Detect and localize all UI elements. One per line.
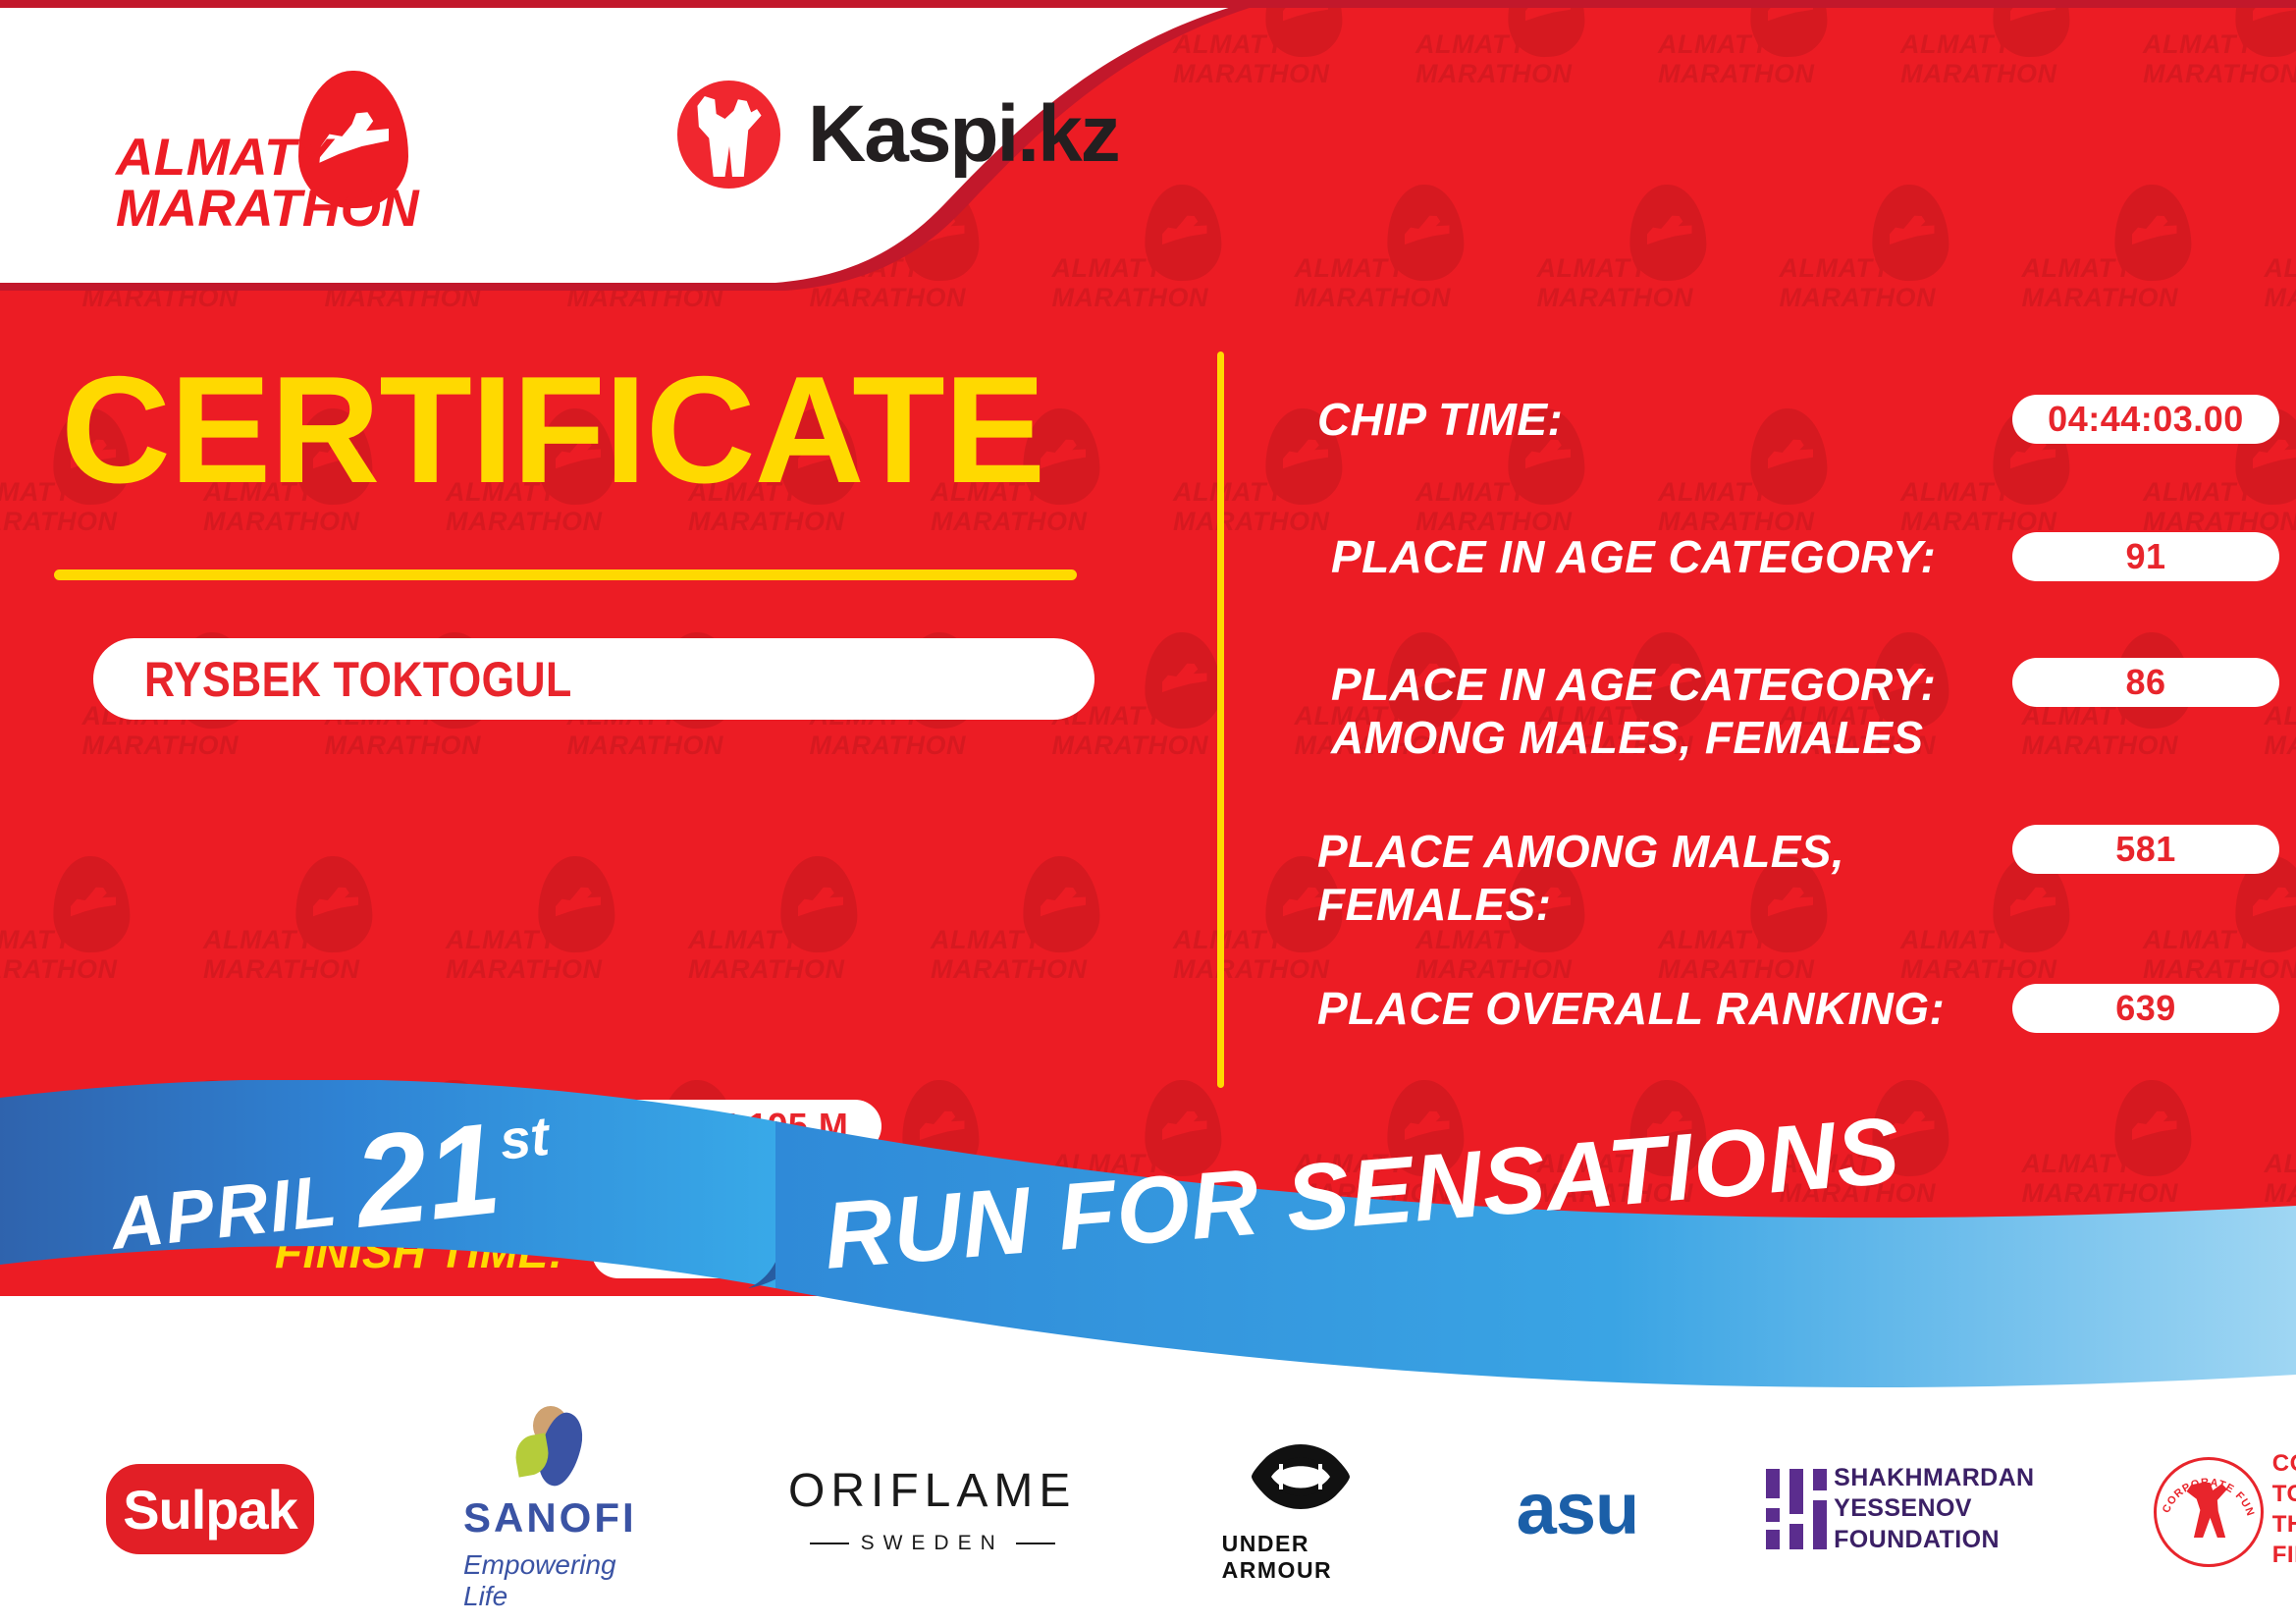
place-overall-ranking-value: 639 <box>2115 988 2176 1029</box>
watermark-line2: MARATHON <box>1658 954 1814 985</box>
yessenov-foundation-logo <box>1766 1469 1812 1549</box>
athlete-name-value: RYSBEK TOKTOGUL <box>144 651 572 708</box>
sulpak-logo-label: Sulpak <box>123 1478 297 1542</box>
sponsor-sanofi: SANOFI Empowering Life <box>463 1406 637 1612</box>
watermark-line2: MARATHON <box>810 731 966 761</box>
sponsor-sulpak: Sulpak <box>106 1464 314 1554</box>
watermark-line2: MARATHON <box>2143 59 2296 89</box>
watermark-line2: MARATHON <box>931 954 1087 985</box>
watermark-line1: ALMATY <box>0 925 72 955</box>
watermark-line1: ALMATY <box>2143 477 2254 508</box>
place-age-category-among-value-pill: 86 <box>2012 658 2279 707</box>
watermark-line2: MARATHON <box>82 731 239 761</box>
stat-row-place-age-category-among: PLACE IN AGE CATEGORY: AMONG MALES, FEMA… <box>1317 658 2279 765</box>
place-among-males-females-value-pill: 581 <box>2012 825 2279 874</box>
bar-3 <box>1813 1469 1827 1490</box>
courage-fund-line1: COURAGE <box>2272 1448 2296 1479</box>
top-accent-line <box>0 0 2296 8</box>
place-overall-ranking-label: PLACE OVERALL RANKING: <box>1317 982 1945 1035</box>
watermark-line1: ALMATY <box>1537 253 1648 284</box>
courage-fund-logo: CORPORATE FUND <box>2154 1457 2257 1561</box>
place-age-category-value-pill: 91 <box>2012 532 2279 581</box>
kaspi-logo-label: Kaspi.kz <box>808 94 1119 175</box>
courage-fund-arc-text: CORPORATE FUND <box>2158 1459 2258 1559</box>
watermark-line2: MARATHON <box>1415 954 1572 985</box>
watermark-line2: MARATHON <box>325 731 481 761</box>
watermark-line1: ALMATY <box>1295 253 1406 284</box>
watermark-line1: ALMATY <box>446 925 557 955</box>
place-age-category-among-label-line1: PLACE IN AGE CATEGORY: <box>1331 658 1936 711</box>
courage-fund-label: COURAGE TO BE THE FIRST! <box>2272 1448 2296 1571</box>
watermark-line2: MARATHON <box>1658 59 1814 89</box>
sponsor-under-armour: UNDER ARMOUR <box>1222 1435 1379 1584</box>
watermark-line2: MARATHON <box>1780 283 1936 313</box>
watermark-line2: MARATHON <box>203 954 359 985</box>
kaspi-logo: Kaspi.kz <box>677 81 1119 189</box>
column-divider <box>1217 352 1224 1088</box>
watermark-runner-icon <box>798 886 843 919</box>
watermark-drop-icon <box>51 855 131 954</box>
athlete-name-field: RYSBEK TOKTOGUL <box>93 638 1095 720</box>
under-armour-logo <box>1222 1435 1379 1519</box>
watermark-runner-icon <box>71 886 116 919</box>
watermark-line1: ALMATY <box>1780 253 1891 284</box>
courage-fund-line2: TO BE <box>2272 1479 2296 1509</box>
kaspi-figure-icon <box>677 81 780 189</box>
watermark-runner-icon <box>313 886 358 919</box>
sponsor-oriflame: ORIFLAME SWEDEN <box>790 1464 1075 1555</box>
sponsor-yessenov-foundation: SHAKHMARDAN YESSENOV FOUNDATION <box>1766 1463 2058 1555</box>
watermark-line2: MARATHON <box>1295 283 1451 313</box>
watermark-line2: MARATHON <box>2022 283 2178 313</box>
under-armour-logo-label: UNDER ARMOUR <box>1222 1531 1379 1584</box>
watermark-drop-icon <box>1506 0 1585 58</box>
oriflame-logo-label: ORIFLAME <box>788 1464 1076 1518</box>
watermark-line2: MARATHON <box>1052 731 1208 761</box>
title-underline <box>54 569 1077 580</box>
stat-row-chip-time: CHIP TIME: 04:44:03.00 <box>1317 393 2279 446</box>
watermark-line2: MARATHON <box>446 954 602 985</box>
bar-2 <box>1789 1469 1803 1514</box>
watermark-tile: ALMATYMARATHON <box>1658 0 1835 108</box>
watermark-tile: ALMATYMARATHON <box>931 856 1107 1003</box>
watermark-line2: MARATHON <box>1173 507 1329 537</box>
yessenov-foundation-line1: SHAKHMARDAN YESSENOV <box>1834 1463 2058 1525</box>
place-age-category-value: 91 <box>2125 536 2165 577</box>
watermark-drop-icon <box>1021 855 1100 954</box>
kaspi-people-glyph <box>693 96 766 177</box>
place-among-males-females-value: 581 <box>2115 829 2176 870</box>
place-age-category-among-value: 86 <box>2125 662 2165 703</box>
almaty-marathon-logo: ALMATY MARATHON <box>116 69 450 216</box>
watermark-tile: ALMATYMARATHON <box>1900 0 2077 108</box>
oriflame-tagline: SWEDEN <box>861 1532 1004 1555</box>
watermark-line1: ALMATY <box>688 925 799 955</box>
place-age-category-among-label-line2: AMONG MALES, FEMALES <box>1331 711 1936 764</box>
watermark-runner-icon <box>1405 214 1450 247</box>
watermark-line2: MARATHON <box>688 954 844 985</box>
watermark-runner-icon <box>1041 886 1086 919</box>
watermark-runner-icon <box>1162 662 1207 695</box>
watermark-runner-icon <box>556 886 601 919</box>
event-day: 21 <box>349 1112 505 1239</box>
place-age-category-among-label: PLACE IN AGE CATEGORY: AMONG MALES, FEMA… <box>1317 658 1936 765</box>
watermark-line2: MARATHON <box>567 731 723 761</box>
stat-row-place-overall-ranking: PLACE OVERALL RANKING: 639 <box>1317 982 2279 1035</box>
place-age-category-label: PLACE IN AGE CATEGORY: <box>1317 530 1936 583</box>
watermark-line1: ALMATY <box>203 925 314 955</box>
place-among-males-females-label-line2: FEMALES: <box>1317 878 1844 931</box>
watermark-tile: ALMATYMARATHON <box>688 856 865 1003</box>
sanofi-logo-label: SANOFI <box>463 1494 637 1542</box>
watermark-drop-icon <box>536 855 615 954</box>
certificate-page: ALMATYMARATHONALMATYMARATHONALMATYMARATH… <box>0 0 2296 1624</box>
bar-5 <box>1789 1524 1803 1549</box>
yessenov-foundation-line2: FOUNDATION <box>1834 1525 2058 1555</box>
watermark-drop-icon <box>1991 0 2070 58</box>
watermark-line2: MARATHON <box>1173 954 1329 985</box>
bar-6 <box>1766 1530 1780 1549</box>
bar-1 <box>1766 1469 1780 1498</box>
watermark-tile: ALMATYMARATHON <box>0 856 137 1003</box>
watermark-line2: MARATHON <box>1900 954 2056 985</box>
almaty-logo-line2: MARATHON <box>116 179 419 239</box>
chip-time-value: 04:44:03.00 <box>2048 399 2244 440</box>
oriflame-rule-left <box>810 1543 849 1544</box>
watermark-drop-icon <box>1143 631 1222 731</box>
watermark-line1: ALMATY <box>1658 29 1769 60</box>
watermark-line1: ALMATY <box>1415 477 1526 508</box>
watermark-tile: ALMATYMARATHON <box>2265 185 2296 332</box>
chip-time-value-pill: 04:44:03.00 <box>2012 395 2279 444</box>
sponsor-asu: asu <box>1517 1473 1639 1545</box>
watermark-line2: MARATHON <box>1900 59 2056 89</box>
sponsor-strip: Sulpak SANOFI Empowering Life ORIFLAME S… <box>0 1394 2296 1624</box>
watermark-tile: ALMATYMARATHON <box>2022 185 2199 332</box>
event-day-ordinal: st <box>497 1104 553 1172</box>
watermark-line1: ALMATY <box>1173 477 1284 508</box>
watermark-drop-icon <box>1748 0 1828 58</box>
watermark-line1: ALMATY <box>2143 29 2254 60</box>
watermark-line1: ALMATY <box>1658 477 1769 508</box>
watermark-tile: ALMATYMARATHON <box>1295 185 1471 332</box>
watermark-line1: ALMATY <box>2022 253 2133 284</box>
chip-time-label: CHIP TIME: <box>1317 393 1563 446</box>
watermark-drop-icon <box>1870 184 1949 283</box>
watermark-runner-icon <box>2132 214 2177 247</box>
svg-text:CORPORATE FUND: CORPORATE FUND <box>2158 1459 2257 1518</box>
watermark-line1: ALMATY <box>1173 925 1284 955</box>
asu-logo-label: asu <box>1517 1473 1639 1545</box>
watermark-drop-icon <box>778 855 858 954</box>
watermark-tile: ALMATYMARATHON <box>446 856 622 1003</box>
watermark-runner-icon <box>1890 214 1935 247</box>
bar-7 <box>1813 1500 1827 1549</box>
page-title: CERTIFICATE <box>61 353 1044 506</box>
watermark-runner-icon <box>1041 438 1086 471</box>
bar-4 <box>1766 1508 1780 1522</box>
courage-fund-line3: THE FIRST! <box>2272 1509 2296 1570</box>
watermark-tile: ALMATYMARATHON <box>2143 0 2296 108</box>
watermark-line1: ALMATY <box>1415 29 1526 60</box>
watermark-drop-icon <box>2233 0 2296 58</box>
watermark-line2: MARATHON <box>1415 59 1572 89</box>
watermark-line1: ALMATY <box>2265 253 2296 284</box>
watermark-drop-icon <box>1628 184 1707 283</box>
watermark-drop-icon <box>1385 184 1465 283</box>
watermark-drop-icon <box>2112 184 2192 283</box>
watermark-line1: ALMATY <box>1900 477 2011 508</box>
watermark-runner-icon <box>1647 214 1692 247</box>
sanofi-tagline: Empowering Life <box>463 1549 637 1612</box>
watermark-tile: ALMATYMARATHON <box>203 856 380 1003</box>
watermark-line1: ALMATY <box>931 925 1041 955</box>
sanofi-logo <box>507 1406 592 1489</box>
place-overall-ranking-value-pill: 639 <box>2012 984 2279 1033</box>
watermark-line2: MARATHON <box>0 954 117 985</box>
watermark-tile: ALMATYMARATHON <box>1780 185 1956 332</box>
oriflame-tagline-row: SWEDEN <box>790 1532 1075 1555</box>
yessenov-foundation-label: SHAKHMARDAN YESSENOV FOUNDATION <box>1834 1463 2058 1555</box>
place-among-males-females-label: PLACE AMONG MALES, FEMALES: <box>1317 825 1844 932</box>
sulpak-logo: Sulpak <box>106 1464 314 1554</box>
watermark-line1: ALMATY <box>1900 29 2011 60</box>
watermark-line2: MARATHON <box>2143 954 2296 985</box>
watermark-line2: MARATHON <box>1537 283 1693 313</box>
stat-row-place-among-males-females: PLACE AMONG MALES, FEMALES: 581 <box>1317 825 2279 932</box>
watermark-tile: ALMATYMARATHON <box>1537 185 1714 332</box>
sponsor-courage-fund: CORPORATE FUND COURAGE TO BE THE FIRST! <box>2154 1448 2296 1571</box>
place-among-males-females-label-line1: PLACE AMONG MALES, <box>1317 825 1844 878</box>
watermark-line2: MARATHON <box>2265 283 2296 313</box>
oriflame-rule-right <box>1016 1543 1055 1544</box>
stat-row-place-age-category: PLACE IN AGE CATEGORY: 91 <box>1317 530 2279 583</box>
watermark-tile: ALMATYMARATHON <box>1415 0 1592 108</box>
watermark-drop-icon <box>294 855 373 954</box>
